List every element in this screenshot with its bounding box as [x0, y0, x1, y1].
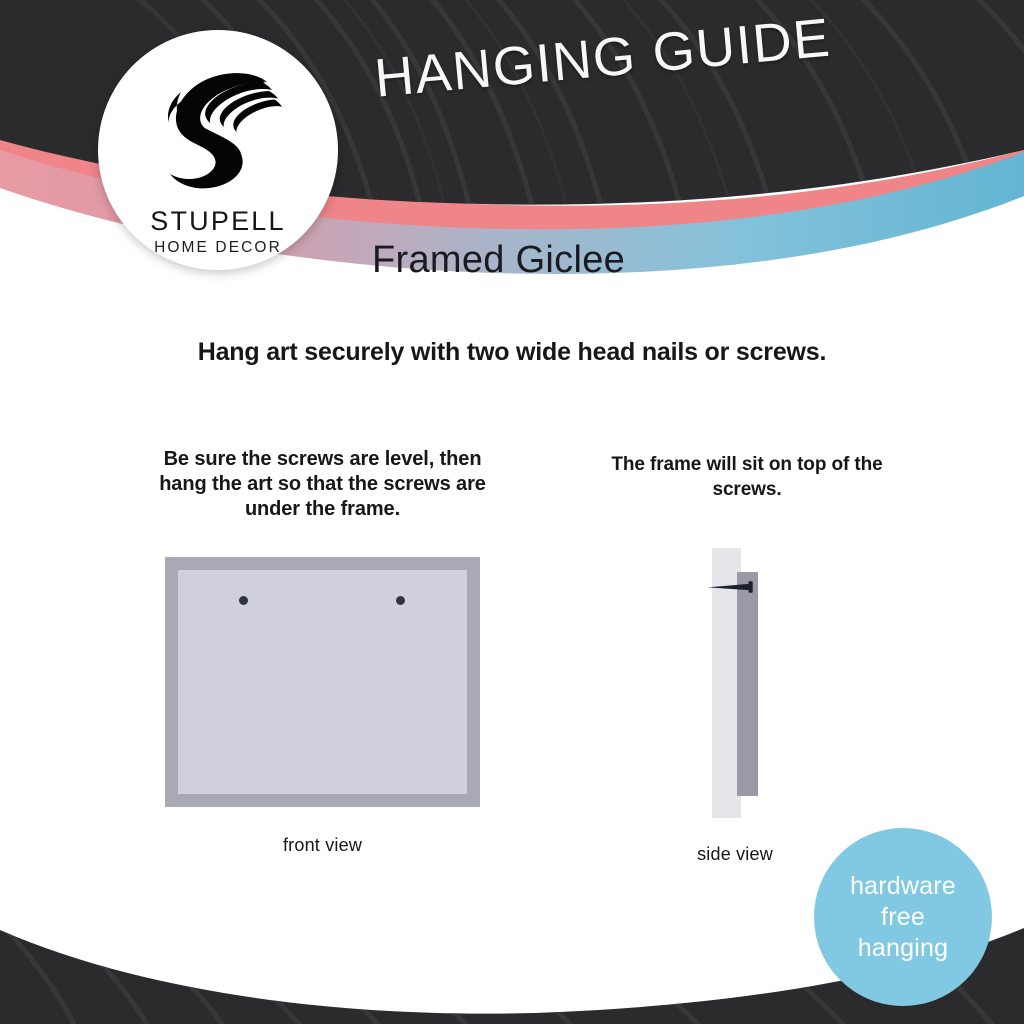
- side-view-frame: [737, 572, 758, 796]
- front-view-frame-diagram: [165, 557, 480, 807]
- screw-dot-icon: [239, 596, 248, 605]
- product-type-title: Framed Giclee: [372, 239, 625, 282]
- front-view-caption: Be sure the screws are level, then hang …: [155, 447, 490, 522]
- hanging-guide-page: HANGING GUIDE STUPELL HOME DECOR Framed …: [0, 0, 1024, 1024]
- hardware-free-badge: hardware free hanging: [814, 828, 992, 1006]
- side-view-label: side view: [640, 844, 830, 865]
- page-title: HANGING GUIDE: [372, 7, 833, 110]
- brand-tagline: HOME DECOR: [98, 239, 338, 257]
- screw-dot-icon: [396, 596, 405, 605]
- side-view-caption: The frame will sit on top of the screws.: [598, 452, 896, 502]
- nail-icon: [706, 578, 760, 596]
- front-view-label: front view: [165, 835, 480, 856]
- primary-instruction: Hang art securely with two wide head nai…: [0, 338, 1024, 367]
- badge-line-2: free: [881, 902, 925, 933]
- badge-line-1: hardware: [850, 871, 956, 902]
- badge-line-3: hanging: [858, 933, 948, 964]
- brand-name: STUPELL: [98, 206, 338, 237]
- frame-mat: [178, 570, 467, 794]
- stupell-swoosh-icon: [154, 64, 282, 190]
- brand-logo-badge: STUPELL HOME DECOR: [98, 30, 338, 270]
